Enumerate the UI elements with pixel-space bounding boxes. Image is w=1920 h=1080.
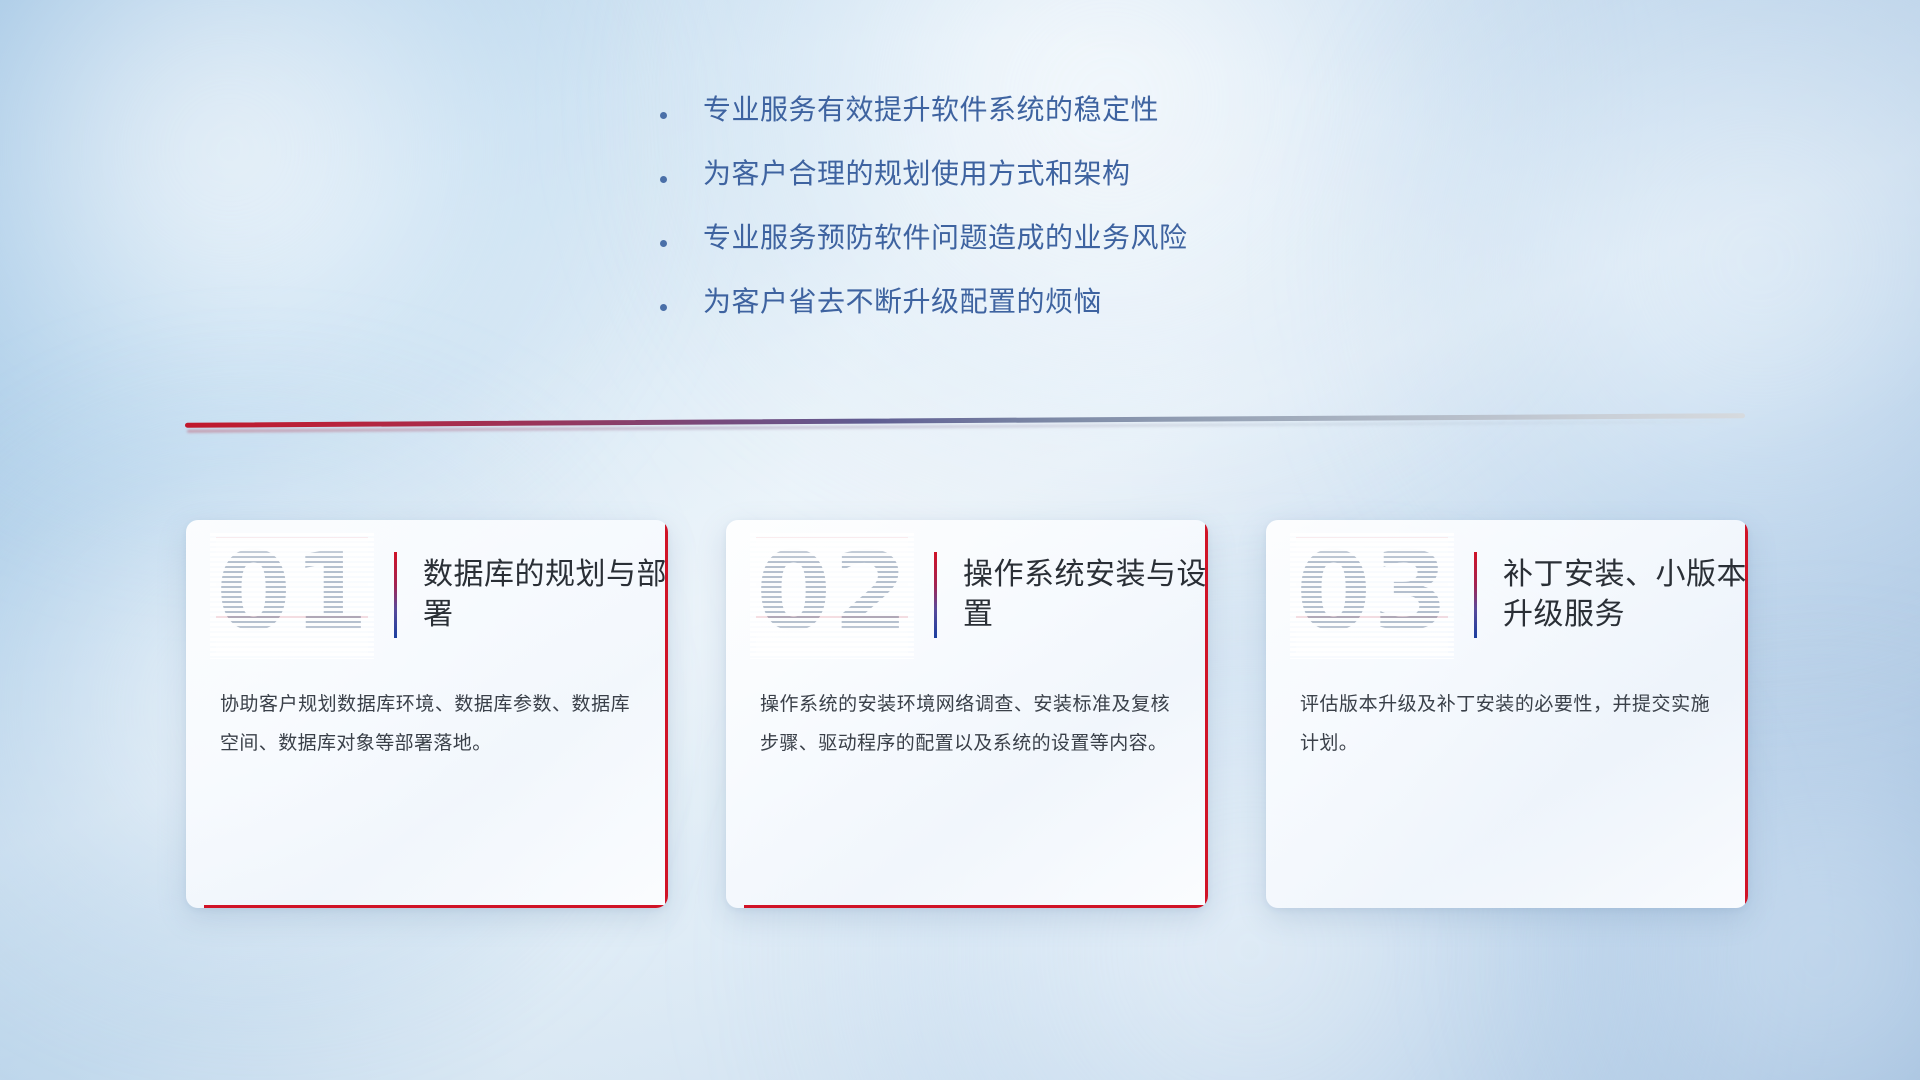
bullet-dot-icon bbox=[660, 112, 667, 119]
bullet-item-1: 专业服务有效提升软件系统的稳定性 bbox=[660, 92, 1420, 156]
bullet-item-4: 为客户省去不断升级配置的烦恼 bbox=[660, 284, 1420, 348]
card-title-divider bbox=[934, 552, 937, 638]
card-body-text: 评估版本升级及补丁安装的必要性，并提交实施计划。 bbox=[1266, 686, 1748, 764]
bullet-text: 为客户合理的规划使用方式和架构 bbox=[703, 156, 1131, 192]
section-divider bbox=[185, 418, 1745, 436]
card-number-text: 02 bbox=[756, 537, 910, 649]
card-row: 01 数据库的规划与部署 协助客户规划数据库环境、数据库参数、数据库空间、数据库… bbox=[186, 520, 1748, 908]
card-body-text: 操作系统的安装环境网络调查、安装标准及复核步骤、驱动程序的配置以及系统的设置等内… bbox=[726, 686, 1208, 764]
bullet-list: 专业服务有效提升软件系统的稳定性 为客户合理的规划使用方式和架构 专业服务预防软… bbox=[660, 92, 1420, 348]
card-number-watermark: 01 bbox=[216, 537, 368, 653]
card-header: 02 操作系统安装与设置 bbox=[726, 520, 1208, 670]
bullet-item-2: 为客户合理的规划使用方式和架构 bbox=[660, 156, 1420, 220]
card-header: 01 数据库的规划与部署 bbox=[186, 520, 668, 670]
bullet-text: 专业服务有效提升软件系统的稳定性 bbox=[703, 92, 1159, 128]
card-body-text: 协助客户规划数据库环境、数据库参数、数据库空间、数据库对象等部署落地。 bbox=[186, 686, 668, 764]
card-title: 补丁安装、小版本升级服务 bbox=[1503, 555, 1748, 635]
card-title: 数据库的规划与部署 bbox=[423, 555, 668, 635]
card-title: 操作系统安装与设置 bbox=[963, 555, 1208, 635]
card-number-text: 01 bbox=[216, 537, 370, 649]
bullet-text: 专业服务预防软件问题造成的业务风险 bbox=[703, 220, 1188, 256]
card-title-divider bbox=[394, 552, 397, 638]
bullet-text: 为客户省去不断升级配置的烦恼 bbox=[703, 284, 1102, 320]
card-header: 03 补丁安装、小版本升级服务 bbox=[1266, 520, 1748, 670]
bullet-dot-icon bbox=[660, 176, 667, 183]
card-accent-edge-bottom bbox=[204, 905, 668, 908]
card-02[interactable]: 02 操作系统安装与设置 操作系统的安装环境网络调查、安装标准及复核步骤、驱动程… bbox=[726, 520, 1208, 908]
card-number-watermark: 03 bbox=[1296, 537, 1448, 653]
bullet-dot-icon bbox=[660, 240, 667, 247]
card-title-divider bbox=[1474, 552, 1477, 638]
bullet-dot-icon bbox=[660, 304, 667, 311]
card-number-watermark: 02 bbox=[756, 537, 908, 653]
card-number-text: 03 bbox=[1296, 537, 1450, 649]
card-01[interactable]: 01 数据库的规划与部署 协助客户规划数据库环境、数据库参数、数据库空间、数据库… bbox=[186, 520, 668, 908]
bullet-item-3: 专业服务预防软件问题造成的业务风险 bbox=[660, 220, 1420, 284]
card-03[interactable]: 03 补丁安装、小版本升级服务 评估版本升级及补丁安装的必要性，并提交实施计划。 bbox=[1266, 520, 1748, 908]
card-accent-edge-bottom bbox=[744, 905, 1208, 908]
